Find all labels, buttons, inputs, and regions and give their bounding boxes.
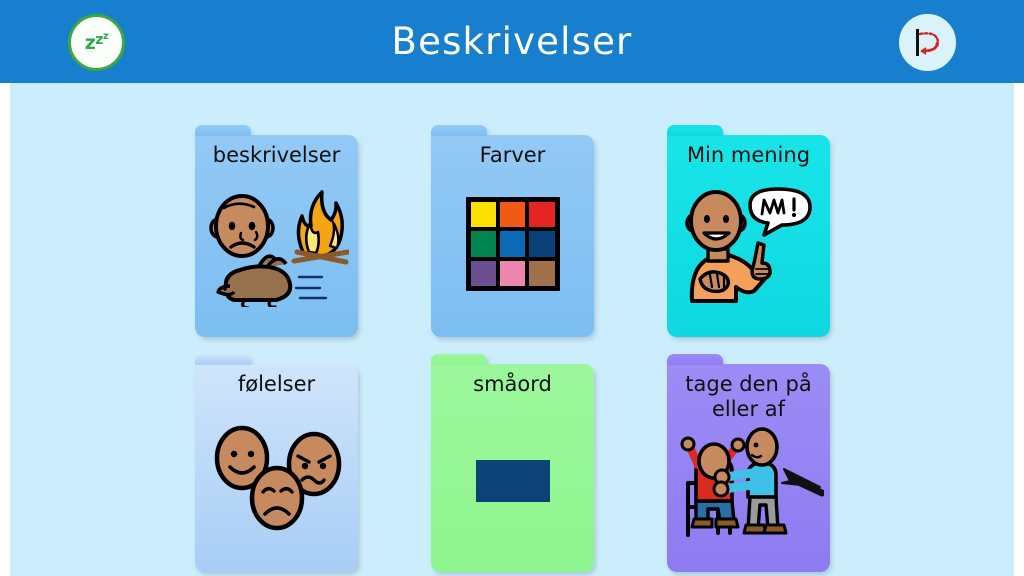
- card-label-line2: eller af: [671, 397, 826, 422]
- card-body: Min mening: [667, 135, 830, 337]
- zzz-icon: zzz: [85, 32, 109, 53]
- app-header: zzz Beskrivelser: [0, 0, 1024, 83]
- card-label-line1: tage den på: [671, 372, 826, 397]
- card-grid: beskrivelser: [195, 125, 845, 572]
- card-label: beskrivelser: [195, 143, 358, 168]
- card-body: Farver: [431, 135, 594, 337]
- color-swatch-red: [529, 202, 554, 227]
- card-label: følelser: [195, 372, 358, 397]
- app-root: zzz Beskrivelser beskrivelser: [0, 0, 1024, 576]
- color-swatch-green: [471, 231, 496, 256]
- card-smaaord[interactable]: småord: [431, 354, 594, 572]
- color-swatch-grid: [466, 197, 560, 291]
- color-swatch-brown: [529, 261, 554, 286]
- card-farver[interactable]: Farver: [431, 125, 594, 337]
- color-swatch-blue: [500, 231, 525, 256]
- color-swatch-orange: [500, 202, 525, 227]
- color-swatch-darkblue: [529, 231, 554, 256]
- back-button[interactable]: [899, 14, 956, 71]
- card-tage-den-paa-eller-af[interactable]: tage den på eller af: [667, 354, 830, 572]
- card-label: Min mening: [667, 143, 830, 168]
- card-body: beskrivelser: [195, 135, 358, 337]
- card-body: følelser: [195, 364, 358, 572]
- card-label: Farver: [431, 143, 594, 168]
- page-title: Beskrivelser: [392, 20, 633, 63]
- sleep-button[interactable]: zzz: [68, 14, 125, 71]
- color-swatch-pink: [500, 261, 525, 286]
- blue-rectangle-shape: [476, 460, 550, 502]
- card-beskrivelser[interactable]: beskrivelser: [195, 125, 358, 337]
- card-body: tage den på eller af: [667, 364, 830, 572]
- card-foelelser[interactable]: følelser: [195, 354, 358, 572]
- card-min-mening[interactable]: Min mening: [667, 125, 830, 337]
- color-swatch-purple: [471, 261, 496, 286]
- card-body: småord: [431, 364, 594, 572]
- back-arrow-icon: [910, 26, 946, 60]
- card-label: småord: [431, 372, 594, 397]
- content-area: beskrivelser: [10, 83, 1014, 576]
- color-swatch-yellow: [471, 202, 496, 227]
- card-label: tage den på eller af: [667, 372, 830, 422]
